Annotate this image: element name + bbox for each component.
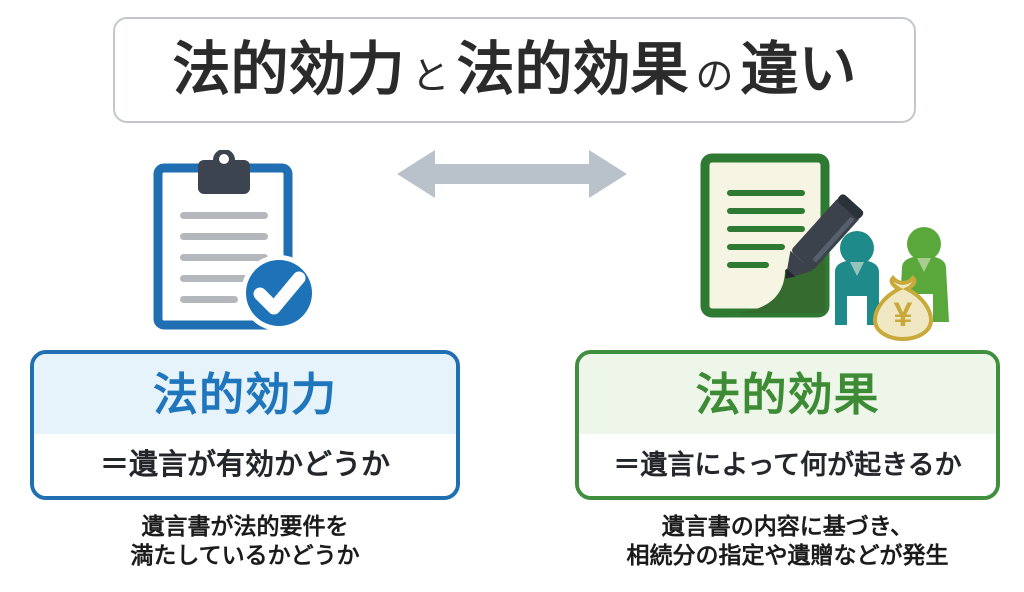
caption-line-1: 遺言書が法的要件を [30,512,460,541]
legal-validity-subtitle: ＝遺言が有効かどうか [100,451,390,480]
legal-validity-card: 法的効力 ＝遺言が有効かどうか [30,350,460,500]
card-heading-area: 法的効力 [34,354,456,434]
caption-line-2: 相続分の指定や遺贈などが発生 [575,541,1000,570]
card-heading-area: 法的効果 [579,354,996,434]
card-subtitle-area: ＝遺言によって何が起きるか [579,434,996,496]
card-subtitle-area: ＝遺言が有効かどうか [34,434,456,496]
title-particle-to: と [404,58,456,96]
right-panel: ¥ 法的効果 ＝遺言によって何が起きるか 遺言書の内容に基づき、 相続分の指定や… [575,150,1000,345]
clipboard-icon-area [30,150,460,345]
title-term-difference: 違い [741,41,857,99]
caption-line-1: 遺言書の内容に基づき、 [575,512,1000,541]
left-panel: 法的効力 ＝遺言が有効かどうか 遺言書が法的要件を 満たしているかどうか [30,150,460,345]
document-pen-people-icon-area: ¥ [575,150,1000,345]
title-term-legal-validity: 法的効力 [172,41,404,99]
title-particle-no: の [689,58,741,96]
legal-effect-caption: 遺言書の内容に基づき、 相続分の指定や遺贈などが発生 [575,512,1000,571]
document-with-pen-people-and-money-bag-icon: ¥ [697,150,967,345]
infographic-canvas: 法的効力 と 法的効果 の 違い [0,0,1024,592]
page-title: 法的効力 と 法的効果 の 違い [172,41,856,99]
legal-effect-card: 法的効果 ＝遺言によって何が起きるか [575,350,1000,500]
title-term-legal-effect: 法的効果 [456,41,688,99]
title-box: 法的効力 と 法的効果 の 違い [113,17,916,123]
yen-symbol: ¥ [894,296,913,334]
caption-line-2: 満たしているかどうか [30,541,460,570]
legal-effect-subtitle: ＝遺言によって何が起きるか [613,452,961,479]
clipboard-with-check-icon [148,150,338,335]
legal-validity-heading: 法的効力 [153,372,337,417]
legal-validity-caption: 遺言書が法的要件を 満たしているかどうか [30,512,460,571]
person-teal [835,231,879,325]
legal-effect-heading: 法的効果 [695,372,879,417]
